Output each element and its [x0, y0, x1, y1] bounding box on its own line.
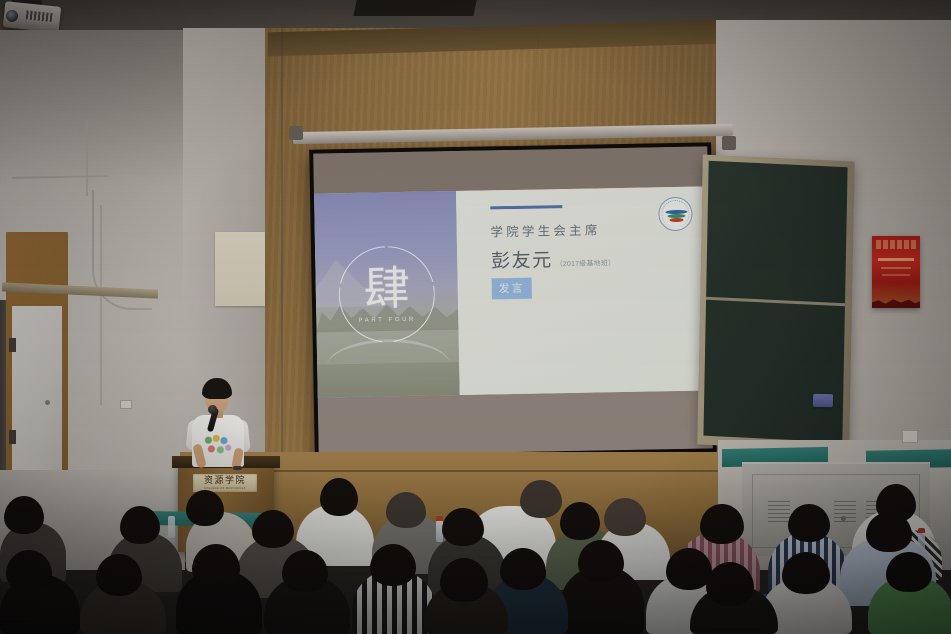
screen-unused-band-bottom — [318, 390, 713, 455]
audience-shading — [0, 470, 951, 634]
tshirt-graphic-print — [203, 434, 233, 456]
screen-roller-cap — [289, 126, 303, 140]
screen-roller-cap — [722, 136, 736, 150]
door-hinge — [9, 430, 16, 444]
poster-text-line — [878, 258, 914, 261]
door-hinge — [9, 338, 16, 352]
poster-header-text — [876, 240, 916, 249]
blackboard-eraser[interactable] — [813, 394, 833, 407]
poster-text-line — [881, 267, 911, 269]
seal-wave-mark — [665, 210, 687, 222]
wall-outlet[interactable] — [120, 400, 132, 409]
slide-speaker-note: （2017级基地班） — [556, 258, 616, 272]
projected-slide: 肆 PART FOUR 学院学生会主席 彭友元 （2017级基地班） 发言 — [314, 186, 712, 397]
wall-conduit — [86, 120, 88, 196]
poster-text-line — [882, 274, 910, 276]
part-number-badge: 肆 PART FOUR — [338, 245, 436, 343]
slide-speaker-name: 彭友元 — [491, 245, 553, 273]
slide-photo-panel: 肆 PART FOUR — [314, 191, 460, 398]
slide-action-tag: 发言 — [491, 277, 531, 299]
ceiling-vent — [353, 0, 476, 16]
projector-lens — [5, 9, 18, 22]
slide-accent-rule — [490, 205, 562, 209]
wall-notice-sheet — [215, 232, 265, 306]
door-knob[interactable] — [45, 400, 50, 405]
screen-surface: 肆 PART FOUR 学院学生会主席 彭友元 （2017级基地班） 发言 — [313, 146, 712, 455]
slide-text-panel: 学院学生会主席 彭友元 （2017级基地班） 发言 — [456, 186, 712, 395]
red-propaganda-poster — [872, 236, 920, 308]
hanging-wire — [100, 205, 102, 405]
speaker-hair — [202, 378, 232, 399]
wall-switch-box[interactable] — [902, 430, 918, 443]
seated-audience — [0, 470, 951, 634]
projection-screen: 肆 PART FOUR 学院学生会主席 彭友元 （2017级基地班） 发言 — [309, 142, 717, 459]
lecture-hall-photo: 肆 PART FOUR 学院学生会主席 彭友元 （2017级基地班） 发言 — [0, 0, 951, 634]
projector-vent — [26, 10, 55, 22]
slide-name-row: 彭友元 （2017级基地班） — [491, 242, 710, 273]
